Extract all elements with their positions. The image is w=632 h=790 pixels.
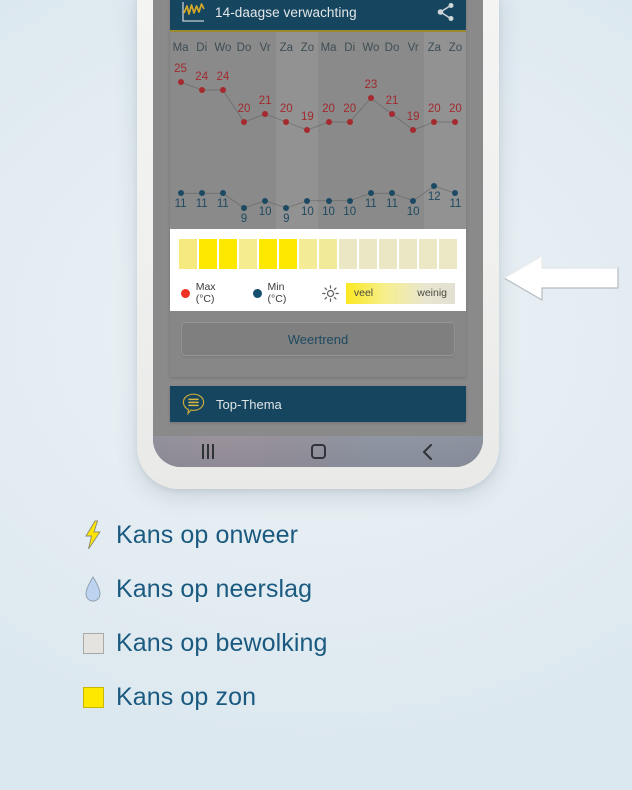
min-temp-point bbox=[304, 198, 310, 204]
min-temp-point bbox=[431, 183, 437, 189]
sun-intensity-cell bbox=[179, 239, 197, 269]
sun-intensity-cell bbox=[299, 239, 317, 269]
max-temp-value: 25 bbox=[174, 63, 187, 75]
min-temp-point bbox=[220, 190, 226, 196]
max-temp-value: 20 bbox=[280, 103, 293, 115]
max-temp-point bbox=[220, 87, 226, 93]
min-temp-point bbox=[347, 198, 353, 204]
max-temp-value: 20 bbox=[322, 103, 335, 115]
speech-bubble-menu-icon bbox=[181, 392, 206, 417]
min-temp-value: 10 bbox=[407, 206, 420, 218]
min-temp-point bbox=[389, 190, 395, 196]
legend-row-label: Kans op zon bbox=[116, 683, 256, 712]
min-temp-value: 12 bbox=[428, 191, 441, 203]
min-temp-value: 11 bbox=[217, 198, 229, 210]
max-temp-value: 23 bbox=[364, 79, 377, 91]
chart-legend: Max (°C) Min (°C) bbox=[181, 278, 455, 308]
water-droplet-icon bbox=[78, 575, 108, 603]
phone-mockup: 14-daagse verwachting MaDiWoDoVrZaZoMaD bbox=[137, 0, 499, 489]
min-temp-value: 11 bbox=[175, 198, 187, 210]
max-temp-point bbox=[326, 119, 332, 125]
min-temp-point bbox=[410, 198, 416, 204]
weather-symbol-legend: Kans op onweerKans op neerslagKans op be… bbox=[78, 508, 548, 724]
back-icon[interactable] bbox=[373, 443, 483, 461]
max-temp-value: 20 bbox=[343, 103, 356, 115]
sun-intensity-strip bbox=[179, 239, 457, 269]
trend-section: Weertrend bbox=[170, 311, 466, 369]
temperature-chart: MaDiWoDoVrZaZoMaDiWoDoVrZaZo 25242420212… bbox=[170, 32, 466, 229]
min-temp-point bbox=[452, 190, 458, 196]
min-temp-value: 9 bbox=[283, 213, 289, 225]
forecast-title: 14-daagse verwachting bbox=[215, 5, 357, 20]
min-temp-value: 9 bbox=[241, 213, 247, 225]
top-thema-label: Top-Thema bbox=[216, 397, 282, 412]
sun-legend-panel: Max (°C) Min (°C) bbox=[170, 229, 466, 311]
max-temp-point bbox=[368, 95, 374, 101]
max-temp-dot-icon bbox=[181, 289, 190, 298]
top-thema-bar[interactable]: Top-Thema bbox=[170, 386, 466, 422]
min-temp-point bbox=[262, 198, 268, 204]
weertrend-button[interactable]: Weertrend bbox=[181, 322, 455, 356]
min-temp-value: 10 bbox=[259, 206, 272, 218]
legend-label-max: Max (°C) bbox=[196, 281, 236, 305]
max-temp-point bbox=[283, 119, 289, 125]
max-temp-point bbox=[410, 127, 416, 133]
min-temp-value: 11 bbox=[449, 198, 461, 210]
sun-intensity-cell bbox=[219, 239, 237, 269]
max-temp-point bbox=[262, 111, 268, 117]
sun-scale-high-label: veel bbox=[354, 287, 373, 299]
forecast-header: 14-daagse verwachting bbox=[170, 0, 466, 32]
legend-row-label: Kans op bewolking bbox=[116, 629, 328, 658]
max-temp-value: 19 bbox=[407, 111, 420, 123]
min-temp-point bbox=[368, 190, 374, 196]
legend-item-max: Max (°C) bbox=[181, 281, 236, 305]
max-temp-point bbox=[199, 87, 205, 93]
left-pointing-arrow bbox=[502, 249, 620, 307]
max-temp-value: 20 bbox=[428, 103, 441, 115]
min-temp-value: 10 bbox=[322, 206, 335, 218]
forecast-card: 14-daagse verwachting MaDiWoDoVrZaZoMaD bbox=[170, 0, 466, 377]
gray-square-icon bbox=[78, 633, 108, 654]
min-temp-point bbox=[199, 190, 205, 196]
legend-item-min: Min (°C) bbox=[253, 281, 305, 305]
yellow-square-icon bbox=[78, 687, 108, 708]
max-temp-point bbox=[304, 127, 310, 133]
legend-label-min: Min (°C) bbox=[268, 281, 305, 305]
line-chart-icon bbox=[180, 0, 206, 24]
weather-app: 14-daagse verwachting MaDiWoDoVrZaZoMaD bbox=[153, 0, 483, 436]
share-icon[interactable] bbox=[435, 1, 457, 23]
min-temp-value: 10 bbox=[343, 206, 356, 218]
max-temp-point bbox=[431, 119, 437, 125]
max-temp-value: 24 bbox=[195, 71, 208, 83]
max-temp-value: 19 bbox=[301, 111, 314, 123]
sun-intensity-cell bbox=[359, 239, 377, 269]
max-temp-value: 21 bbox=[386, 95, 399, 107]
android-nav-bar bbox=[153, 436, 483, 467]
sun-intensity-cell bbox=[419, 239, 437, 269]
max-temp-point bbox=[178, 79, 184, 85]
legend-row: Kans op onweer bbox=[78, 508, 548, 562]
sun-intensity-cell bbox=[319, 239, 337, 269]
min-temp-value: 11 bbox=[196, 198, 208, 210]
sun-scale-low-label: weinig bbox=[417, 287, 447, 299]
max-temp-value: 21 bbox=[259, 95, 272, 107]
sun-intensity-cell bbox=[399, 239, 417, 269]
legend-row-label: Kans op onweer bbox=[116, 521, 298, 550]
min-temp-dot-icon bbox=[253, 289, 262, 298]
legend-row: Kans op bewolking bbox=[78, 616, 548, 670]
min-temp-value: 11 bbox=[365, 198, 377, 210]
min-temp-point bbox=[178, 190, 184, 196]
max-temp-value: 24 bbox=[216, 71, 229, 83]
legend-row: Kans op zon bbox=[78, 670, 548, 724]
phone-screen: 14-daagse verwachting MaDiWoDoVrZaZoMaD bbox=[153, 0, 483, 467]
legend-row-label: Kans op neerslag bbox=[116, 575, 312, 604]
sun-intensity-cell bbox=[259, 239, 277, 269]
sun-intensity-cell bbox=[379, 239, 397, 269]
max-temp-point bbox=[389, 111, 395, 117]
lightning-bolt-icon bbox=[78, 520, 108, 550]
min-temp-point bbox=[283, 205, 289, 211]
max-temp-point bbox=[241, 119, 247, 125]
max-temp-value: 20 bbox=[449, 103, 462, 115]
recents-icon[interactable] bbox=[153, 444, 263, 459]
weertrend-label: Weertrend bbox=[288, 332, 348, 347]
sun-intensity-cell bbox=[199, 239, 217, 269]
min-temp-point bbox=[326, 198, 332, 204]
sun-icon bbox=[322, 285, 339, 302]
sun-intensity-cell bbox=[279, 239, 297, 269]
sun-intensity-cell bbox=[439, 239, 457, 269]
sun-scale-gradient: veel weinig bbox=[346, 283, 455, 304]
temperature-lines bbox=[170, 32, 466, 229]
min-temp-value: 10 bbox=[301, 206, 314, 218]
sun-intensity-cell bbox=[239, 239, 257, 269]
min-temp-point bbox=[241, 205, 247, 211]
min-temp-value: 11 bbox=[386, 198, 398, 210]
max-temp-point bbox=[452, 119, 458, 125]
home-icon[interactable] bbox=[263, 444, 373, 459]
max-temp-value: 20 bbox=[238, 103, 251, 115]
sun-intensity-cell bbox=[339, 239, 357, 269]
max-temp-point bbox=[347, 119, 353, 125]
legend-row: Kans op neerslag bbox=[78, 562, 548, 616]
